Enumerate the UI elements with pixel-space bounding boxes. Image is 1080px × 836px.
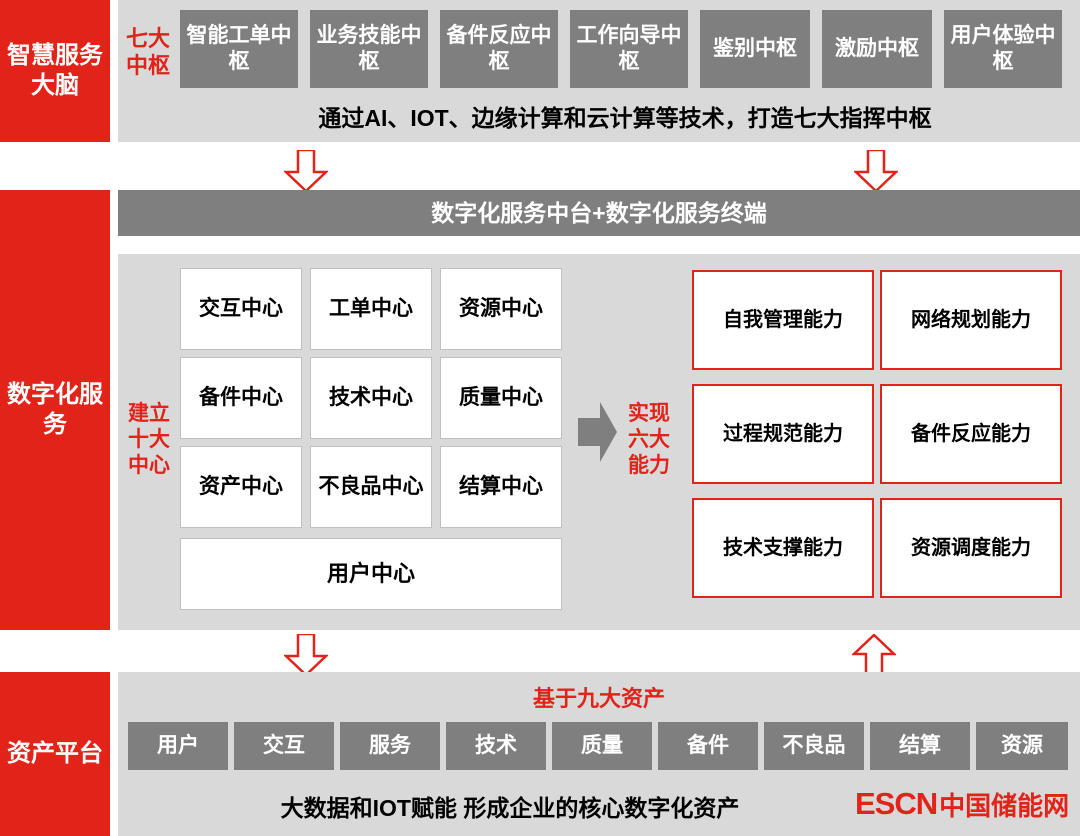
brain-caption: 通过AI、IOT、边缘计算和云计算等技术，打造七大指挥中枢 bbox=[176, 96, 1074, 136]
arrow-down-icon bbox=[284, 634, 328, 676]
digital-section-label: 数字化服务 bbox=[0, 190, 110, 630]
asset-box-1[interactable]: 用户 bbox=[128, 722, 228, 770]
asset-title: 基于九大资产 bbox=[130, 680, 1068, 714]
asset-box-5[interactable]: 质量 bbox=[552, 722, 652, 770]
asset-box-6[interactable]: 备件 bbox=[658, 722, 758, 770]
center-box-4[interactable]: 备件中心 bbox=[180, 357, 302, 439]
capabilities-sub-label: 实现六大能力 bbox=[624, 385, 674, 495]
capability-box-5[interactable]: 技术支撑能力 bbox=[692, 498, 874, 598]
brain-section-label: 智慧服务大脑 bbox=[0, 0, 110, 142]
capability-box-1[interactable]: 自我管理能力 bbox=[692, 270, 874, 370]
hub-box-3[interactable]: 备件反应中枢 bbox=[440, 10, 558, 88]
watermark-brand: ESCN bbox=[855, 786, 937, 822]
brain-sub-label: 七大中枢 bbox=[124, 22, 172, 82]
arrow-right-icon bbox=[578, 400, 618, 464]
center-box-8[interactable]: 不良品中心 bbox=[310, 446, 432, 528]
asset-box-4[interactable]: 技术 bbox=[446, 722, 546, 770]
digital-platform-header: 数字化服务中台+数字化服务终端 bbox=[118, 190, 1080, 236]
hub-box-6[interactable]: 激励中枢 bbox=[822, 10, 932, 88]
hub-box-7[interactable]: 用户体验中枢 bbox=[944, 10, 1062, 88]
center-box-9[interactable]: 结算中心 bbox=[440, 446, 562, 528]
center-box-3[interactable]: 资源中心 bbox=[440, 268, 562, 350]
hub-box-1[interactable]: 智能工单中枢 bbox=[180, 10, 298, 88]
hub-box-4[interactable]: 工作向导中枢 bbox=[570, 10, 688, 88]
center-box-7[interactable]: 资产中心 bbox=[180, 446, 302, 528]
asset-box-3[interactable]: 服务 bbox=[340, 722, 440, 770]
capability-box-4[interactable]: 备件反应能力 bbox=[880, 384, 1062, 484]
center-box-2[interactable]: 工单中心 bbox=[310, 268, 432, 350]
center-box-1[interactable]: 交互中心 bbox=[180, 268, 302, 350]
watermark-name: 中国储能网 bbox=[939, 786, 1069, 823]
center-box-5[interactable]: 技术中心 bbox=[310, 357, 432, 439]
asset-box-2[interactable]: 交互 bbox=[234, 722, 334, 770]
diagram-canvas: 智慧服务大脑 七大中枢 智能工单中枢 业务技能中枢 备件反应中枢 工作向导中枢 … bbox=[0, 0, 1080, 836]
asset-box-7[interactable]: 不良品 bbox=[764, 722, 864, 770]
arrow-down-icon bbox=[284, 150, 328, 192]
capability-box-2[interactable]: 网络规划能力 bbox=[880, 270, 1062, 370]
asset-box-9[interactable]: 资源 bbox=[976, 722, 1068, 770]
capability-box-3[interactable]: 过程规范能力 bbox=[692, 384, 874, 484]
arrow-up-icon bbox=[852, 634, 896, 676]
asset-section-label: 资产平台 bbox=[0, 672, 110, 836]
hub-box-2[interactable]: 业务技能中枢 bbox=[310, 10, 428, 88]
centers-sub-label: 建立十大中心 bbox=[124, 385, 174, 495]
center-box-user[interactable]: 用户中心 bbox=[180, 538, 562, 610]
capability-box-6[interactable]: 资源调度能力 bbox=[880, 498, 1062, 598]
center-box-6[interactable]: 质量中心 bbox=[440, 357, 562, 439]
arrow-down-icon bbox=[854, 150, 898, 192]
asset-caption: 大数据和IOT赋能 形成企业的核心数字化资产 bbox=[130, 786, 890, 826]
asset-box-8[interactable]: 结算 bbox=[870, 722, 970, 770]
watermark: ESCN 中国储能网 bbox=[855, 784, 1069, 824]
hub-box-5[interactable]: 鉴别中枢 bbox=[700, 10, 810, 88]
